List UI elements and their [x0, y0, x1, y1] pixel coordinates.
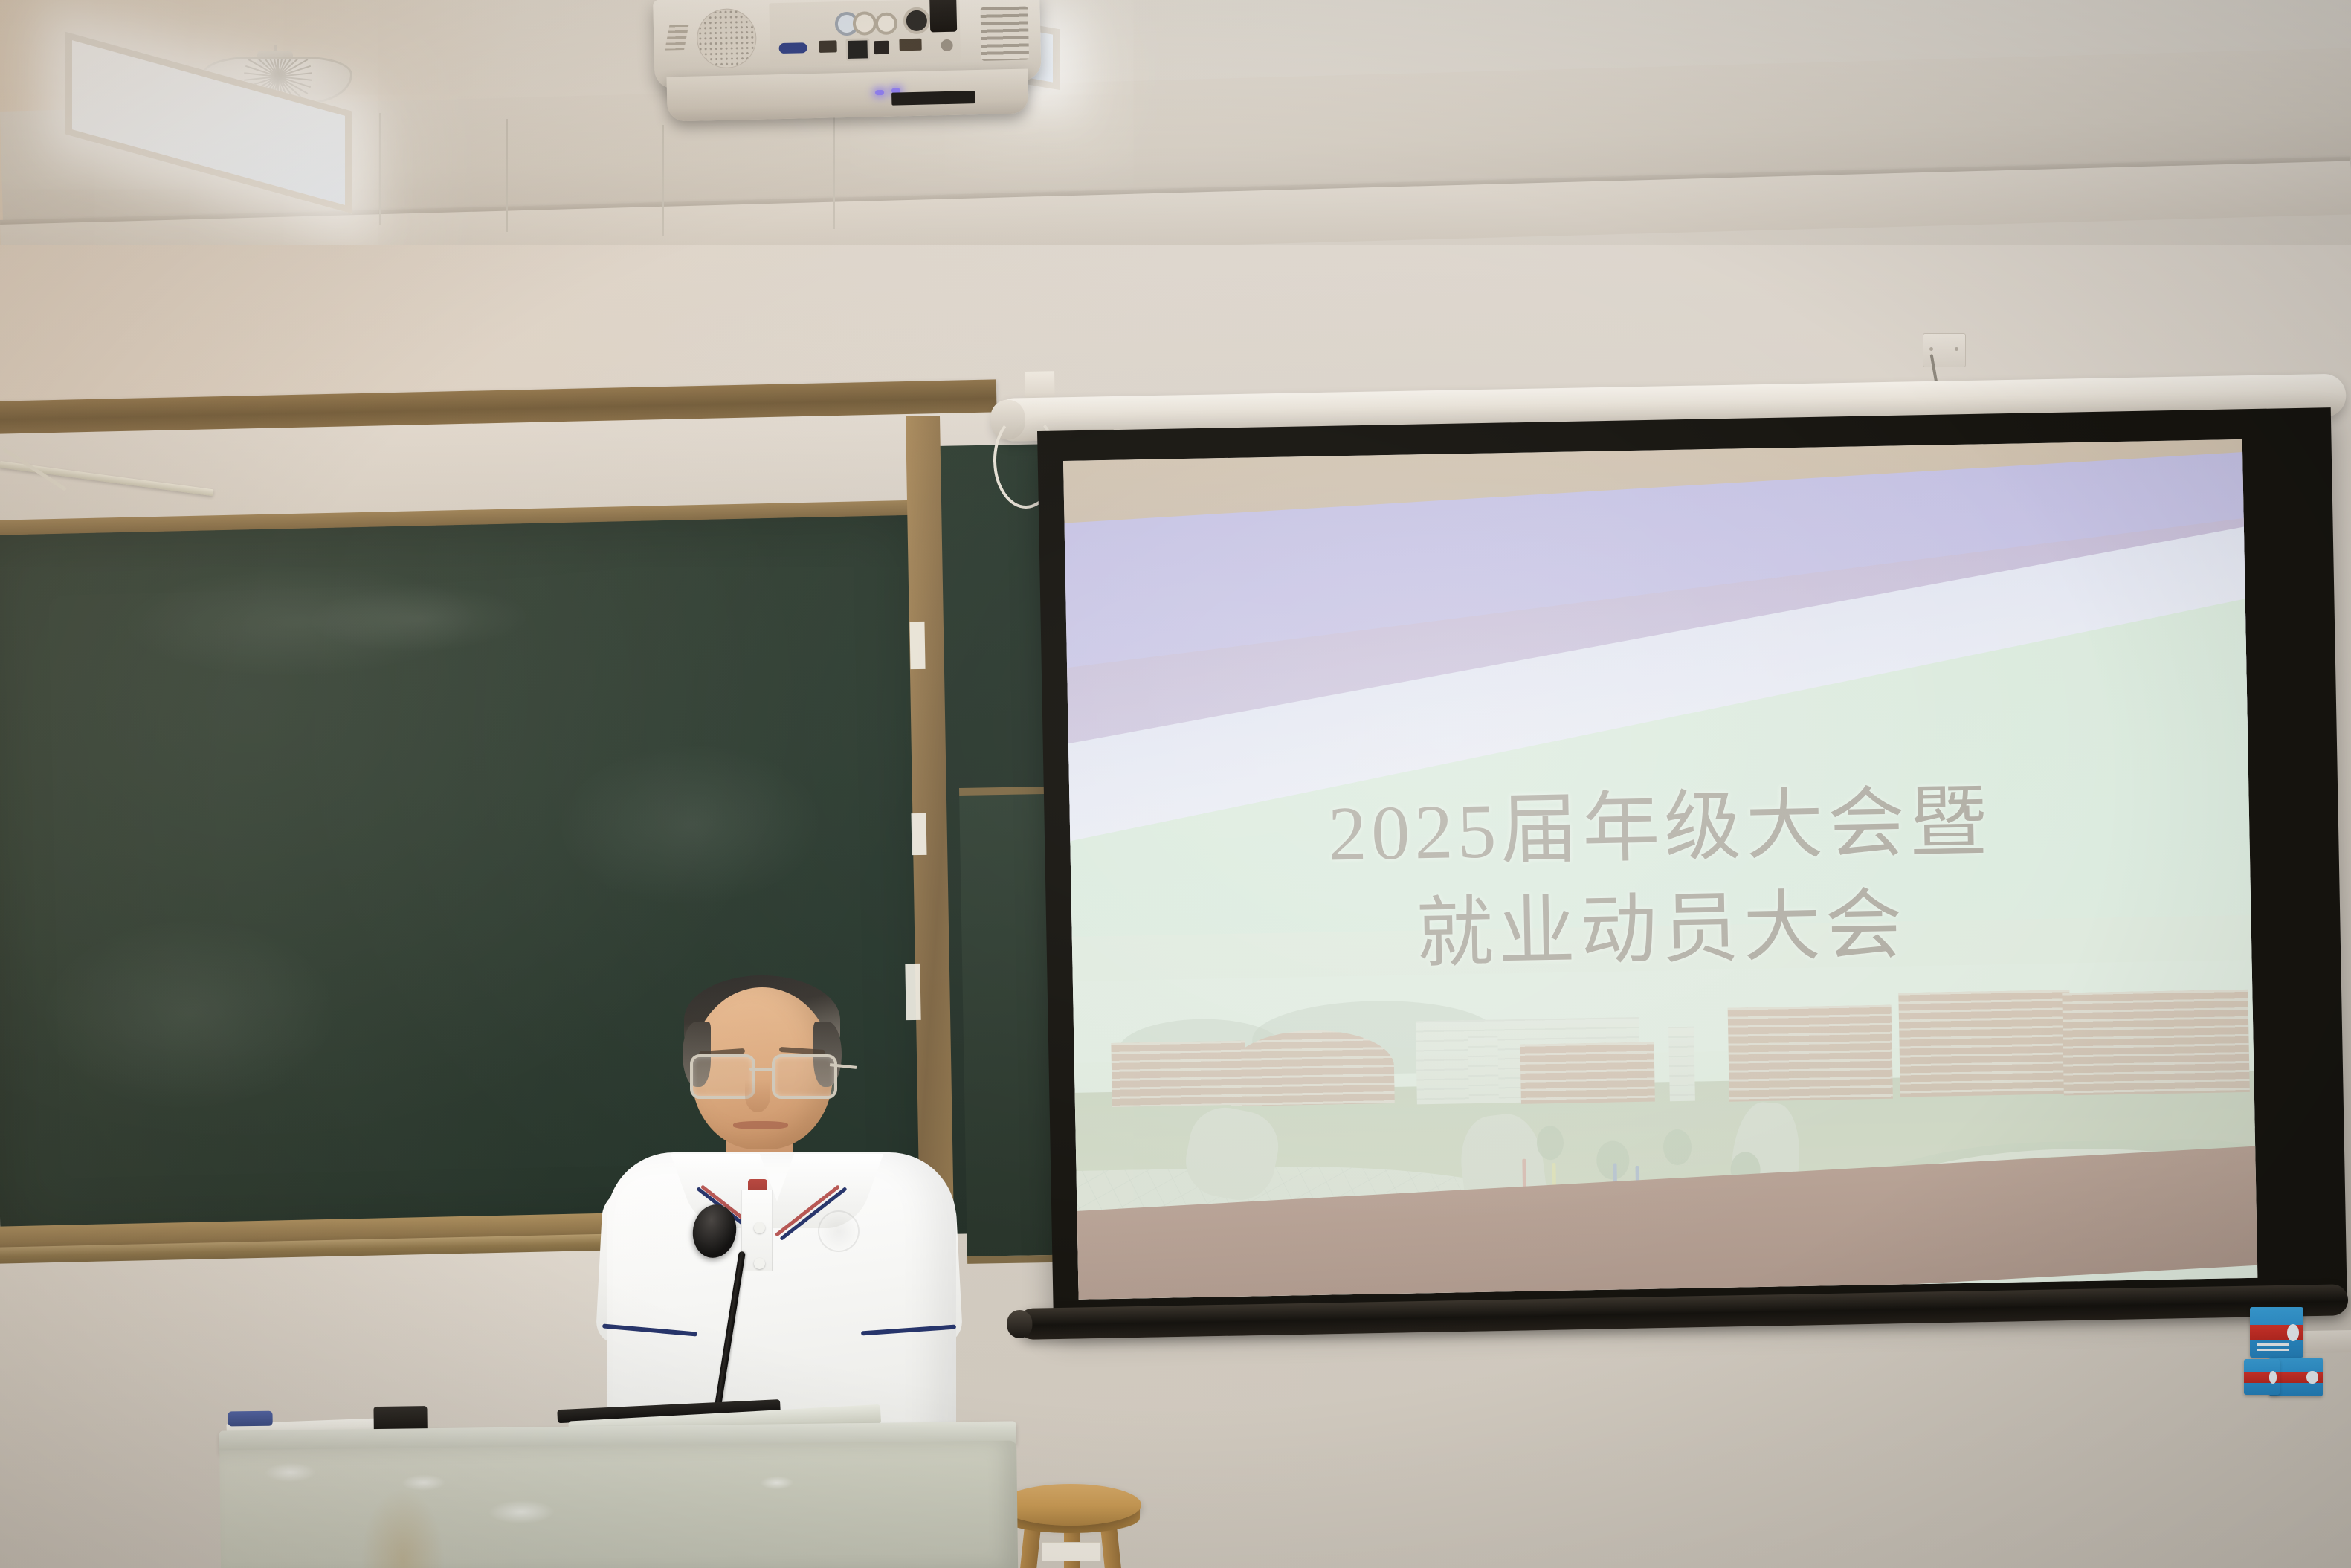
- blue-marker-cap[interactable]: [228, 1411, 272, 1427]
- screen-bar-end-cap: [1007, 1310, 1033, 1339]
- podium-stain: [361, 1489, 445, 1568]
- tape-patch: [909, 622, 925, 669]
- polo-button: [754, 1258, 765, 1269]
- projector-speaker-grille: [696, 8, 757, 69]
- hanging-wire: [379, 113, 381, 225]
- podium-scuff: [401, 1474, 446, 1491]
- hdmi-port: [899, 39, 921, 51]
- tape-patch: [912, 813, 927, 855]
- eyeglass-lens-right: [772, 1054, 837, 1099]
- podium-front-panel: [219, 1440, 1018, 1568]
- chalk-box-emblem: [2269, 1371, 2277, 1383]
- hanging-wire: [506, 119, 508, 232]
- hanging-wire: [833, 110, 835, 229]
- podium-scuff: [488, 1500, 555, 1524]
- nose: [745, 1080, 770, 1112]
- wall-junction-plate: [1923, 333, 1966, 367]
- lecture-podium[interactable]: [219, 1421, 1018, 1568]
- projection-screen-surface[interactable]: 2025届年级大会暨 就业动员大会: [1063, 439, 2257, 1300]
- stool-leg: [1100, 1525, 1121, 1568]
- projector-connector-block: [929, 0, 957, 32]
- usb-b-port: [874, 41, 889, 54]
- rj45-lan-port: [845, 38, 870, 61]
- wooden-round-stool[interactable]: [1000, 1484, 1141, 1568]
- projector-name-plate: [891, 91, 975, 106]
- stool-seat: [1000, 1484, 1141, 1526]
- slide-title: 2025届年级大会暨 就业动员大会: [1069, 767, 2252, 993]
- projector-vent-left: [665, 25, 688, 51]
- projector-vent-right: [980, 6, 1029, 60]
- mouth: [733, 1121, 788, 1129]
- chalk-box-3[interactable]: [2244, 1359, 2280, 1395]
- stool-label-tag: [1042, 1542, 1101, 1561]
- ceiling-mounted-projector: [653, 0, 1042, 126]
- eyeglass-bridge: [749, 1068, 775, 1071]
- polo-button: [754, 1222, 765, 1233]
- projector-power-led: [875, 90, 884, 95]
- usb-a-port: [819, 40, 836, 53]
- podium-scuff: [264, 1462, 316, 1482]
- podium-scuff: [760, 1476, 794, 1490]
- polo-chest-logo: [818, 1210, 860, 1252]
- chalk-sticks-graphic: [2257, 1343, 2290, 1352]
- chalk-box-1[interactable]: [2250, 1307, 2303, 1358]
- classroom-scene: 2025届年级大会暨 就业动员大会: [0, 0, 2351, 1568]
- vga-port: [779, 42, 807, 54]
- hanging-wire: [662, 125, 664, 236]
